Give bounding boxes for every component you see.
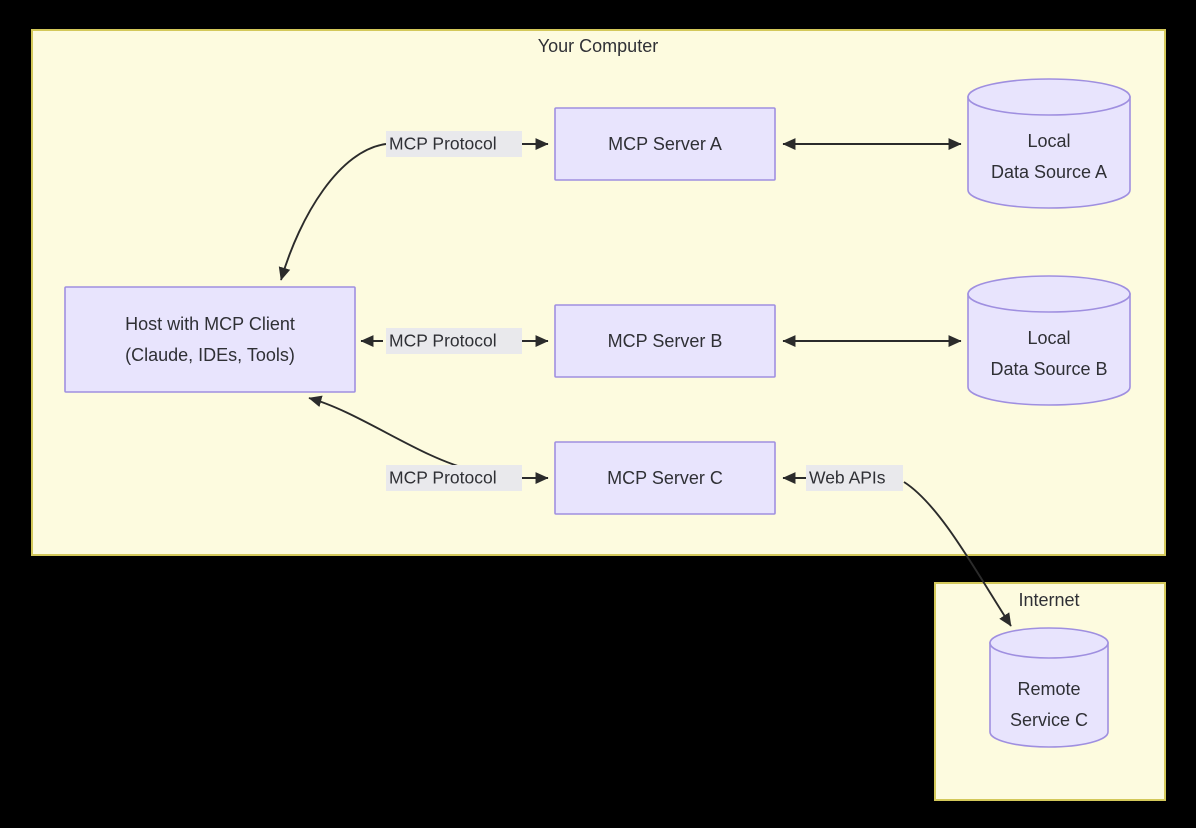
server-a-label: MCP Server A (608, 134, 722, 154)
edge-host-server-a-label: MCP Protocol (389, 134, 497, 154)
your-computer-title: Your Computer (538, 36, 658, 56)
node-data-source-a[interactable]: Local Data Source A (968, 79, 1130, 208)
edge-host-server-b-label: MCP Protocol (389, 331, 497, 351)
node-server-a[interactable]: MCP Server A (555, 108, 775, 180)
edge-host-server-c-label: MCP Protocol (389, 468, 497, 488)
node-data-source-b[interactable]: Local Data Source B (968, 276, 1130, 405)
data-source-b-top (968, 276, 1130, 312)
node-host[interactable]: Host with MCP Client (Claude, IDEs, Tool… (65, 287, 355, 392)
edge-server-c-remote-label: Web APIs (809, 468, 886, 488)
edge-host-server-b[interactable]: MCP Protocol (361, 328, 548, 354)
mcp-architecture-diagram: Your Computer Internet MCP Protocol MCP … (0, 0, 1196, 828)
node-remote-service-c[interactable]: Remote Service C (990, 628, 1108, 747)
server-c-label: MCP Server C (607, 468, 723, 488)
remote-service-c-top (990, 628, 1108, 658)
host-label-line1: Host with MCP Client (125, 314, 295, 334)
data-source-b-label-line1: Local (1027, 328, 1070, 348)
remote-service-c-label-line2: Service C (1010, 710, 1088, 730)
data-source-a-label-line1: Local (1027, 131, 1070, 151)
server-b-label: MCP Server B (608, 331, 723, 351)
diagram-canvas: Your Computer Internet MCP Protocol MCP … (0, 0, 1196, 828)
node-server-b[interactable]: MCP Server B (555, 305, 775, 377)
host-box (65, 287, 355, 392)
data-source-a-top (968, 79, 1130, 115)
host-label-line2: (Claude, IDEs, Tools) (125, 345, 295, 365)
node-server-c[interactable]: MCP Server C (555, 442, 775, 514)
data-source-b-label-line2: Data Source B (990, 359, 1107, 379)
internet-title: Internet (1018, 590, 1079, 610)
data-source-a-label-line2: Data Source A (991, 162, 1107, 182)
remote-service-c-label-line1: Remote (1017, 679, 1080, 699)
